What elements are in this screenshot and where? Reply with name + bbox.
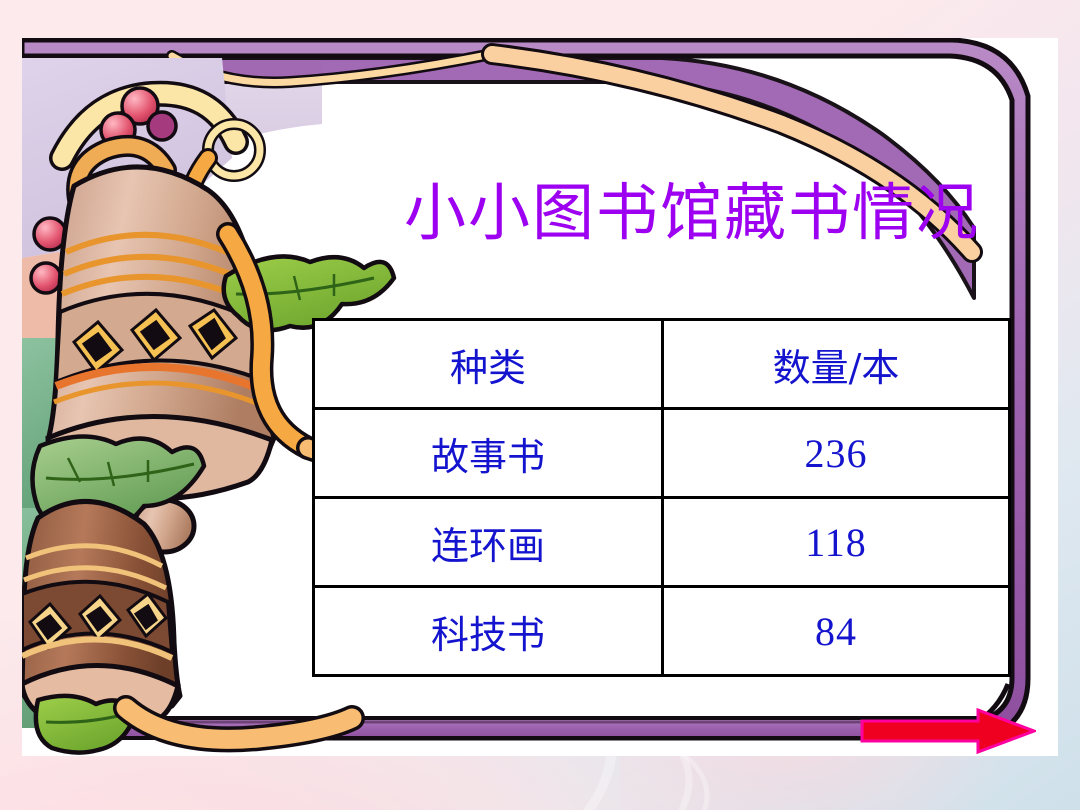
column-header-count: 数量/本 [663,320,1010,409]
books-table-container: 种类 数量/本 故事书 236 连环画 118 科技书 84 [312,318,1008,676]
right-arrow-icon[interactable] [860,708,1036,754]
cell-category: 科技书 [314,587,663,676]
table-row: 科技书 84 [314,587,1010,676]
cell-category: 连环画 [314,498,663,587]
slide-root: 小小图书馆藏书情况 种类 数量/本 故事书 236 [0,0,1080,810]
table-row: 故事书 236 [314,409,1010,498]
cell-count: 84 [663,587,1010,676]
table-row: 连环画 118 [314,498,1010,587]
cell-category: 故事书 [314,409,663,498]
cell-count: 236 [663,409,1010,498]
next-slide-arrow-button[interactable] [860,708,1036,754]
column-header-category: 种类 [314,320,663,409]
cell-count: 118 [663,498,1010,587]
table-header-row: 种类 数量/本 [314,320,1010,409]
page-title: 小小图书馆藏书情况 [372,180,1012,245]
slide-page: 小小图书馆藏书情况 种类 数量/本 故事书 236 [22,38,1058,756]
books-table: 种类 数量/本 故事书 236 连环画 118 科技书 84 [312,318,1011,677]
